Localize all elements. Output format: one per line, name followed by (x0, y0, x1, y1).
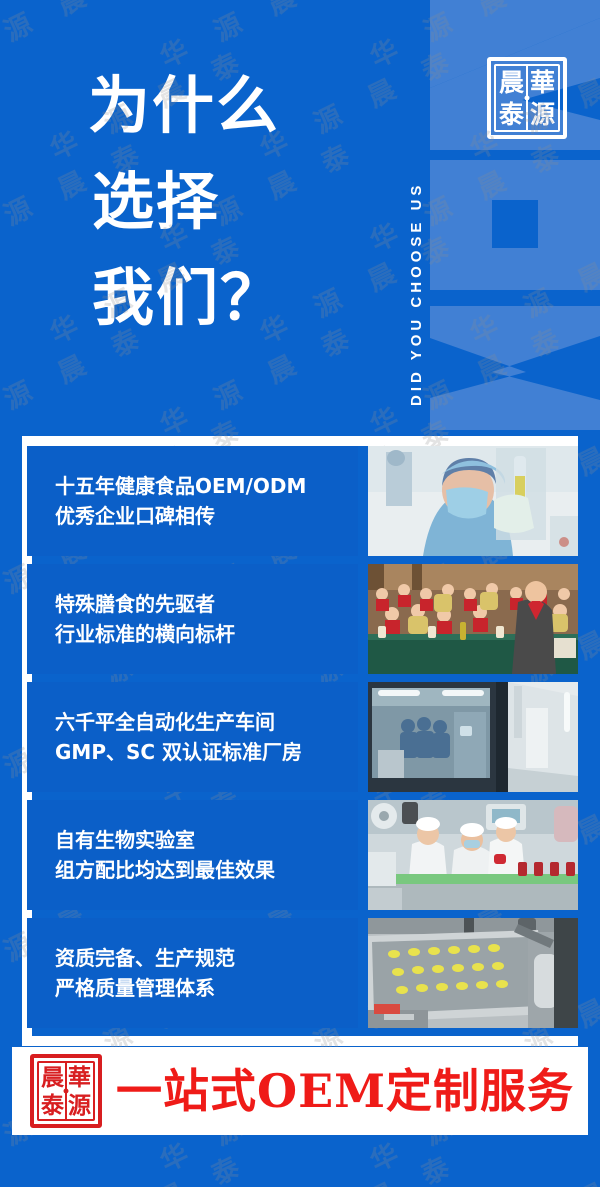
seal-char-4: 源 (527, 98, 558, 130)
seal-char-1: 晨 (39, 1063, 66, 1091)
watermark-text: 华 源 晨 泰 (43, 1140, 257, 1187)
feature-rows: 十五年健康食品OEM/ODM 优秀企业口碑相传 (27, 446, 578, 1028)
banner-slogan: 一站式OEM定制服务 (116, 1068, 574, 1114)
page-title: 为什么 选择 我们？ (88, 58, 388, 346)
seal-char-2: 華 (66, 1063, 93, 1091)
seal-char-1: 晨 (496, 66, 527, 98)
photo-lab-technician-pipette (368, 446, 578, 556)
feature-row: 十五年健康食品OEM/ODM 优秀企业口碑相传 (27, 446, 578, 556)
feature-card: 六千平全自动化生产车间 GMP、SC 双认证标准厂房 (27, 682, 358, 792)
seal-char-3: 泰 (496, 98, 527, 130)
seal-char-4: 源 (66, 1091, 93, 1119)
feature-line-1: 特殊膳食的先驱者 (55, 589, 358, 619)
header: 为什么 选择 我们？ DID YOU CHOOSE US 晨 華 泰 源 (0, 0, 600, 436)
photo-production-line-workers (368, 800, 578, 910)
feature-row: 特殊膳食的先驱者 行业标准的横向标杆 (27, 564, 578, 674)
poster-root: 为什么 选择 我们？ DID YOU CHOOSE US 晨 華 泰 源 十五年… (0, 0, 600, 1187)
headline-line-3: 我们？ (88, 250, 388, 346)
feature-card: 自有生物实验室 组方配比均达到最佳效果 (27, 800, 358, 910)
photo-cleanroom-corridor (368, 682, 578, 792)
watermark-text: 华 源 晨 泰 (463, 1140, 600, 1187)
seal-char-2: 華 (527, 66, 558, 98)
bottom-banner: 晨 華 泰 源 一站式OEM定制服务 (12, 1047, 588, 1135)
feature-row: 六千平全自动化生产车间 GMP、SC 双认证标准厂房 (27, 682, 578, 792)
headline-line-1: 为什么 (88, 58, 388, 154)
feature-card: 资质完备、生产规范 严格质量管理体系 (27, 918, 358, 1028)
feature-row: 资质完备、生产规范 严格质量管理体系 (27, 918, 578, 1028)
vertical-english-caption: DID YOU CHOOSE US (408, 18, 434, 406)
feature-row: 自有生物实验室 组方配比均达到最佳效果 (27, 800, 578, 910)
brand-seal-icon: 晨 華 泰 源 (487, 57, 567, 139)
seal-char-3: 泰 (39, 1091, 66, 1119)
feature-line-2: 组方配比均达到最佳效果 (55, 855, 358, 885)
feature-line-1: 六千平全自动化生产车间 (55, 707, 358, 737)
feature-line-1: 资质完备、生产规范 (55, 943, 358, 973)
feature-line-2: 严格质量管理体系 (55, 973, 358, 1003)
seal-center-dot (64, 1089, 69, 1094)
headline-line-2: 选择 (88, 154, 388, 250)
brand-seal-icon-red: 晨 華 泰 源 (30, 1054, 102, 1128)
feature-line-1: 十五年健康食品OEM/ODM (55, 471, 358, 501)
feature-card: 特殊膳食的先驱者 行业标准的横向标杆 (27, 564, 358, 674)
feature-line-2: 行业标准的横向标杆 (55, 619, 358, 649)
watermark-text: 华 源 晨 泰 (253, 1140, 467, 1187)
photo-conference-audience (368, 564, 578, 674)
feature-line-2: 优秀企业口碑相传 (55, 501, 358, 531)
photo-blister-packing-machine (368, 918, 578, 1028)
seal-center-dot (525, 96, 530, 101)
feature-line-1: 自有生物实验室 (55, 825, 358, 855)
feature-card: 十五年健康食品OEM/ODM 优秀企业口碑相传 (27, 446, 358, 556)
feature-line-2: GMP、SC 双认证标准厂房 (55, 737, 358, 767)
